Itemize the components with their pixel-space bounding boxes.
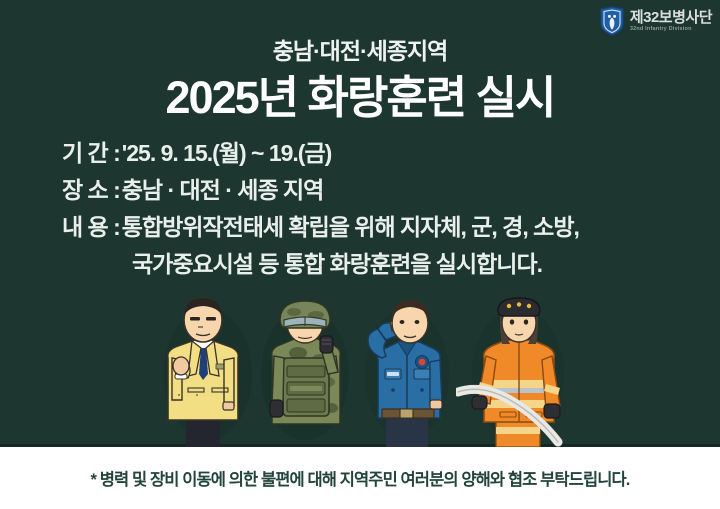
- detail-value-content-line2: 국가중요시설 등 통합 화랑훈련을 실시합니다.: [62, 245, 682, 282]
- detail-label-period: 기 간 :: [62, 134, 120, 168]
- poster-root: 제32보병사단 32nd Infantry Division 충남·대전·세종지…: [0, 0, 720, 509]
- detail-value-period: '25. 9. 15.(월) ~ 19.(금): [122, 134, 332, 168]
- detail-value-content: 통합방위작전태세 확립을 위해 지자체, 군, 경, 소방,: [122, 208, 579, 242]
- figure-police-officer: [352, 296, 462, 447]
- footer-note-text: * 병력 및 장비 이동에 의한 불편에 대해 지역주민 여러분의 양해와 협조…: [91, 466, 630, 490]
- detail-label-location: 장 소 :: [62, 171, 120, 205]
- detail-row-period: 기 간 : '25. 9. 15.(월) ~ 19.(금): [62, 134, 682, 171]
- poster-title: 2025년 화랑훈련 실시: [0, 61, 720, 126]
- detail-list: 기 간 : '25. 9. 15.(월) ~ 19.(금) 장 소 : 충남 ·…: [62, 134, 682, 282]
- division-name-ko: 제32보병사단: [630, 10, 712, 25]
- detail-label-content: 내 용 :: [62, 208, 120, 242]
- footer-note: * 병력 및 장비 이동에 의한 불편에 대해 지역주민 여러분의 양해와 협조…: [0, 447, 720, 509]
- figure-civil-official: [148, 296, 258, 447]
- division-logo-text: 제32보병사단 32nd Infantry Division: [630, 10, 712, 33]
- figure-firefighter: [456, 296, 574, 447]
- detail-row-location: 장 소 : 충남 · 대전 · 세종 지역: [62, 171, 682, 208]
- detail-row-content: 내 용 : 통합방위작전태세 확립을 위해 지자체, 군, 경, 소방,: [62, 208, 682, 245]
- figure-group: [0, 296, 720, 447]
- figure-soldier: [250, 296, 360, 447]
- detail-value-location: 충남 · 대전 · 세종 지역: [122, 171, 324, 205]
